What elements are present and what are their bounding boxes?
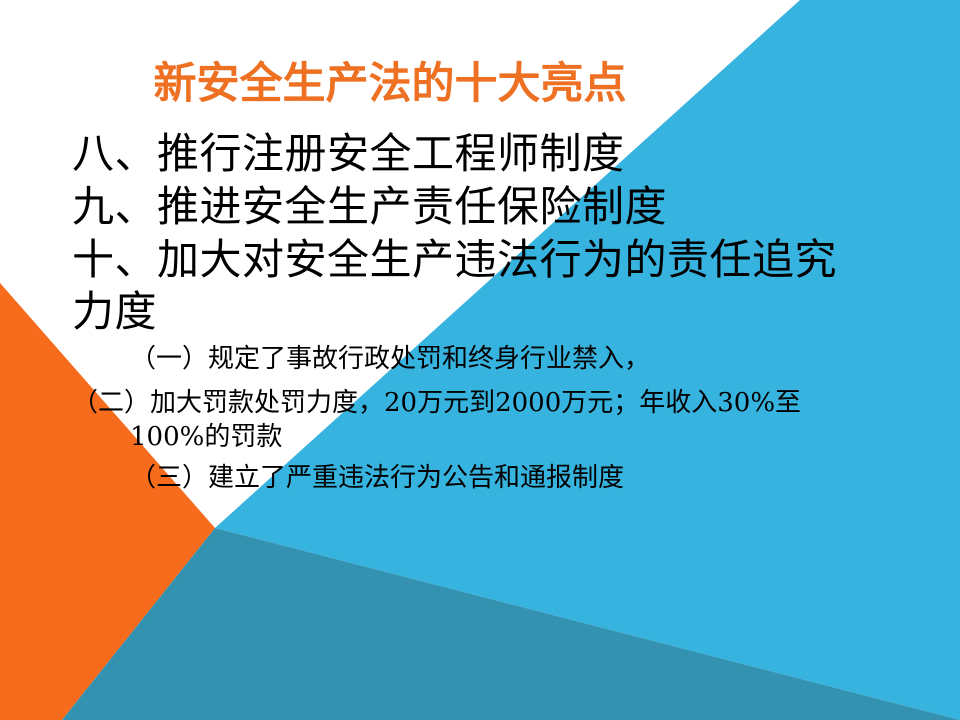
presentation-slide: 新安全生产法的十大亮点 八、推行注册安全工程师制度 九、推进安全生产责任保险制度… [0, 0, 960, 720]
slide-content: 新安全生产法的十大亮点 八、推行注册安全工程师制度 九、推进安全生产责任保险制度… [0, 0, 960, 720]
sub-bullet-3: （三）建立了严重违法行为公告和通报制度 [72, 462, 872, 496]
main-bullet-1: 八、推行注册安全工程师制度 [72, 128, 872, 179]
slide-title: 新安全生产法的十大亮点 [0, 62, 780, 107]
main-bullet-3: 十、加大对安全生产违法行为的责任追究力度 [34, 234, 872, 336]
slide-body: 八、推行注册安全工程师制度 九、推进安全生产责任保险制度 十、加大对安全生产违法… [72, 128, 872, 506]
sub-bullet-list: （一）规定了事故行政处罚和终身行业禁入， （二）加大罚款处罚力度，20万元到20… [72, 343, 872, 496]
sub-bullet-1: （一）规定了事故行政处罚和终身行业禁入， [72, 343, 872, 377]
main-bullet-2: 九、推进安全生产责任保险制度 [72, 181, 872, 232]
sub-bullet-2: （二）加大罚款处罚力度，20万元到2000万元；年收入30%至100%的罚款 [72, 387, 872, 455]
